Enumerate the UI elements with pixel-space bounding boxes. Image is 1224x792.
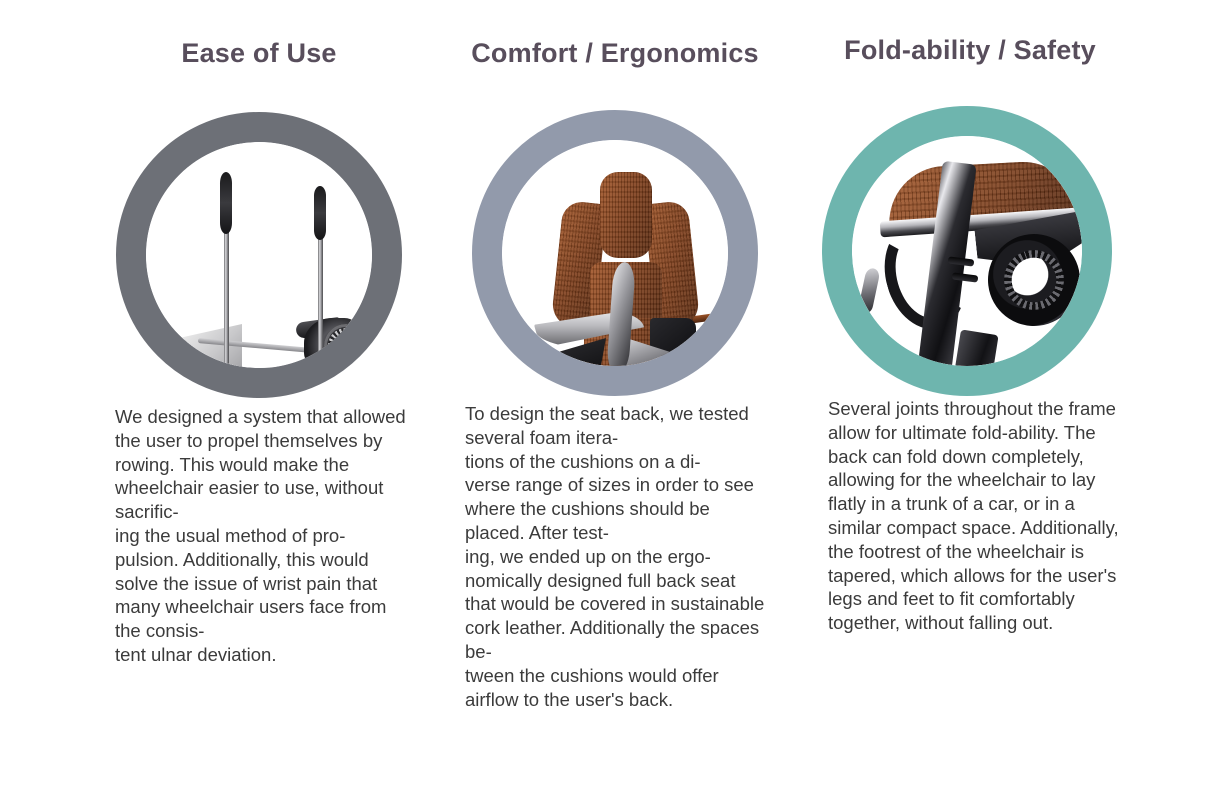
lever-left-shape (224, 226, 229, 366)
column-body-comfort-ergonomics: To design the seat back, we tested sever… (465, 402, 765, 711)
feature-column-comfort-ergonomics: Comfort / Ergonomics To design (435, 0, 795, 792)
badge-image-cork-seat-back (502, 140, 728, 366)
grip-left-shape (220, 172, 232, 234)
circular-image-badge-ease-of-use (116, 112, 402, 398)
badge-image-folding-joint (852, 136, 1082, 366)
badge-image-rowing-lever (146, 142, 372, 368)
frame-small-blade-shape (857, 267, 880, 315)
column-body-ease-of-use: We designed a system that allowed the us… (115, 405, 415, 667)
gear-shape (324, 324, 368, 368)
column-title-comfort-ergonomics: Comfort / Ergonomics (435, 36, 795, 70)
circular-image-badge-comfort-ergonomics (472, 110, 758, 396)
circular-image-badge-fold-ability-safety (822, 106, 1112, 396)
folding-frame-joint-illustration (852, 136, 1082, 366)
feature-columns-board: Ease of Use We designed a system that al… (0, 0, 1224, 792)
column-title-ease-of-use: Ease of Use (79, 36, 439, 70)
feature-column-fold-ability-safety: Fold-ability / Safety Several joints thr… (790, 0, 1150, 792)
column-body-fold-ability-safety: Several joints throughout the frame allo… (828, 397, 1128, 635)
cork-seat-back-illustration (502, 140, 728, 366)
grip-right-shape (314, 186, 326, 240)
feature-column-ease-of-use: Ease of Use We designed a system that al… (79, 0, 439, 792)
rowing-lever-illustration (146, 142, 372, 368)
frame-leg-shape (951, 329, 998, 366)
column-title-fold-ability-safety: Fold-ability / Safety (790, 33, 1150, 67)
cushion-headrest-shape (600, 172, 652, 258)
lever-right-shape (318, 238, 323, 366)
